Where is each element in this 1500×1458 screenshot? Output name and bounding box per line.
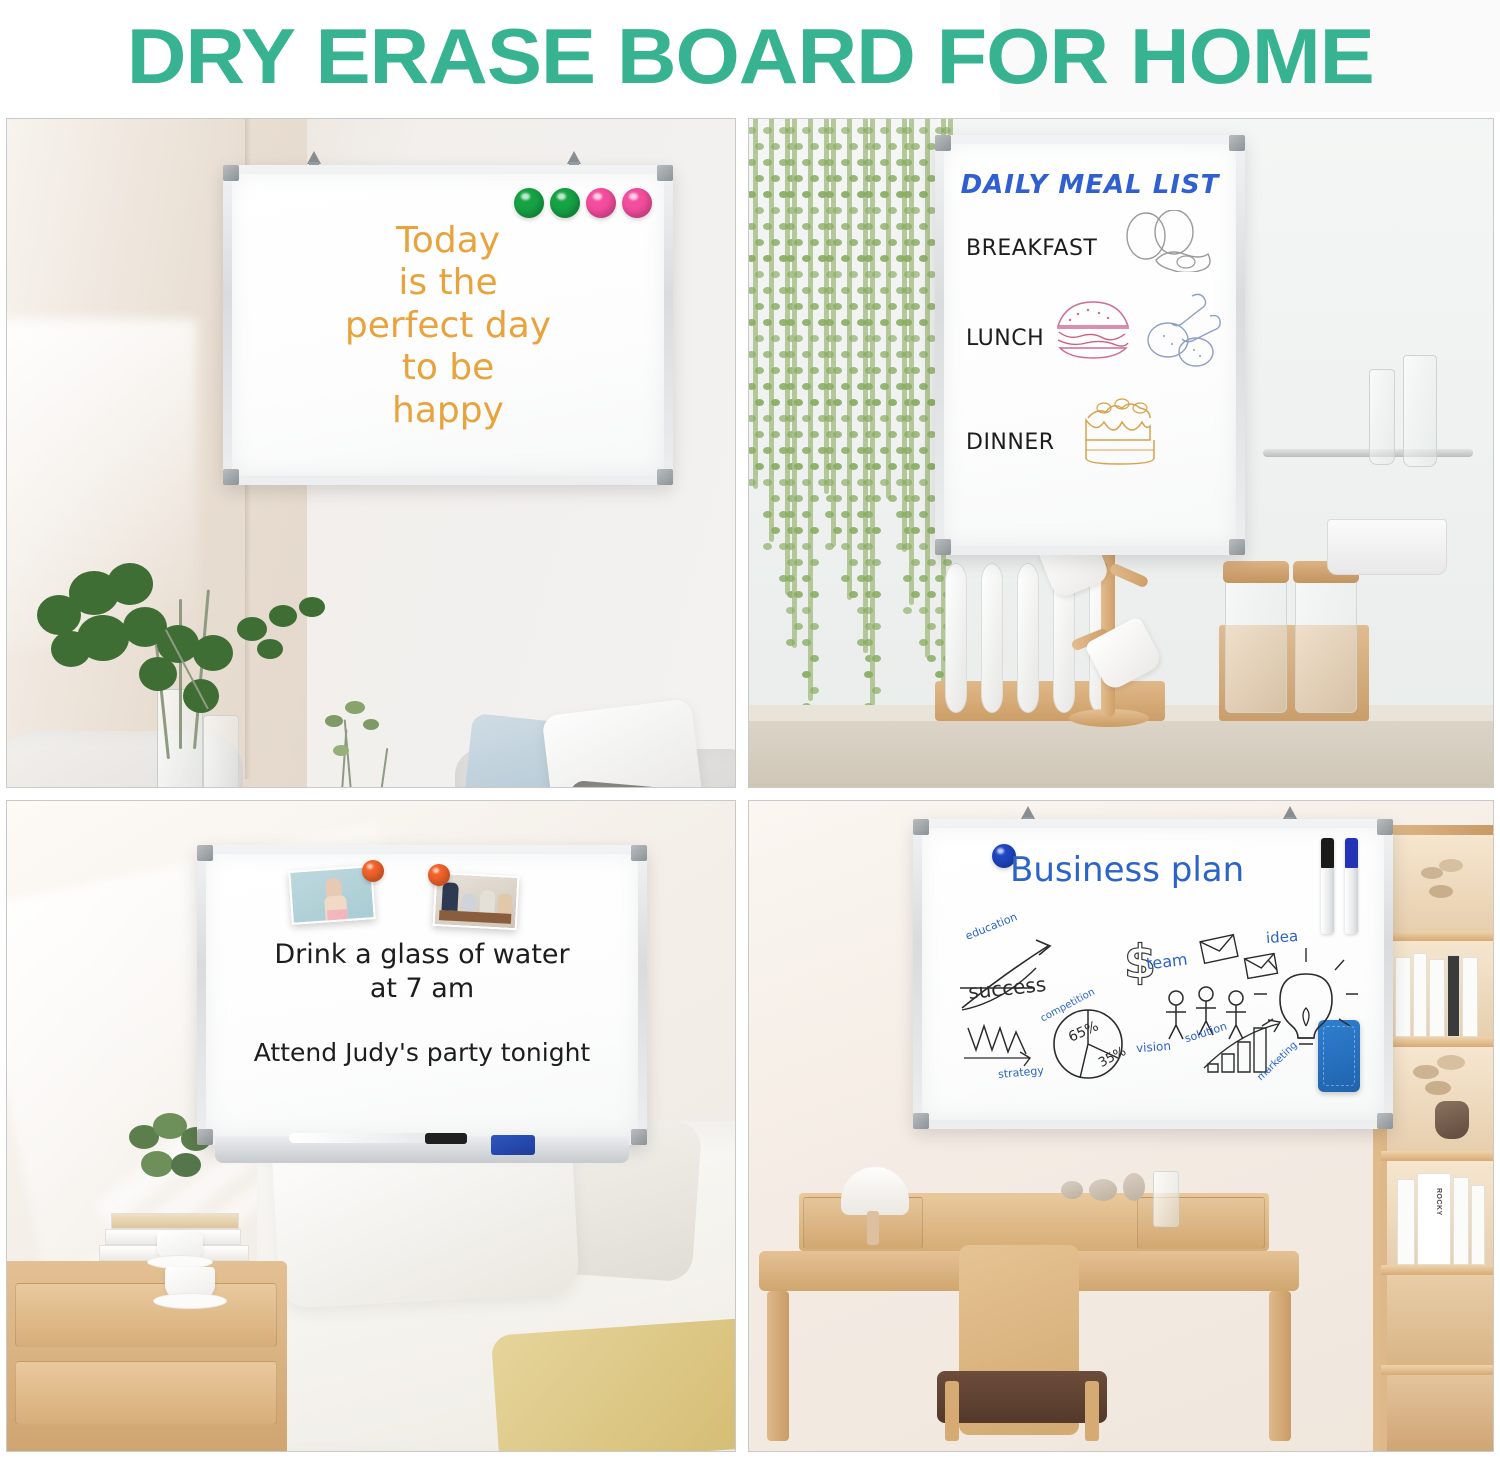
vine-leaf [841, 319, 850, 326]
note-line-2: at 7 am [206, 972, 638, 1006]
vine-leaf [841, 511, 850, 518]
vine-leaf [763, 479, 772, 486]
desk-leg-left [767, 1291, 789, 1441]
shelf-cell-4: ROCKY [1387, 1161, 1493, 1265]
frame-corner-top-right [1229, 135, 1245, 151]
vine-leaf [888, 335, 897, 342]
whiteboard-surface[interactable]: Drink a glass of water at 7 am Attend Ju… [206, 854, 638, 1136]
vine-leaf [771, 207, 780, 214]
vine-leaf [786, 191, 795, 198]
panel-bedroom: Drink a glass of water at 7 am Attend Ju… [6, 800, 736, 1452]
vine-leaf [903, 415, 912, 422]
plate-1 [945, 563, 967, 713]
vine-leaf [841, 127, 850, 134]
vine-leaf [794, 367, 803, 374]
vine-leaf [880, 479, 889, 486]
panel-grid: Today is the perfect day to be happy [0, 112, 1500, 1458]
vine-leaf [919, 127, 928, 134]
shelf-cell-1 [1387, 835, 1493, 931]
vine-leaf [919, 223, 928, 230]
vine-leaf [911, 271, 920, 278]
plate-3 [1017, 563, 1039, 713]
vine-leaf [786, 479, 795, 486]
frame-corner-bottom-right [631, 1129, 647, 1145]
vine-leaf [841, 159, 850, 166]
vine-leaf [872, 623, 881, 630]
vine-leaf [802, 127, 811, 134]
vine-leaf [903, 447, 912, 454]
vine-leaf [888, 399, 897, 406]
vine-leaf [802, 383, 811, 390]
vine-leaf [888, 239, 897, 246]
vine-leaf [794, 463, 803, 470]
note-line-1: Drink a glass of water [206, 938, 638, 972]
vine-leaf [888, 207, 897, 214]
message-line-2: is the [232, 262, 664, 304]
marker-blue[interactable] [1345, 838, 1358, 934]
vine-leaf [802, 575, 811, 582]
vine-leaf [864, 127, 873, 134]
glass-vase-2 [203, 715, 239, 787]
vine-leaf [802, 223, 811, 230]
vine-leaf [903, 319, 912, 326]
chair-leg-right [1085, 1381, 1099, 1441]
vine-leaf [911, 431, 920, 438]
vine-leaf [911, 527, 920, 534]
vine-leaf [755, 207, 764, 214]
message-line-3: perfect day [232, 305, 664, 347]
vine-leaf [919, 159, 928, 166]
vine-leaf [825, 255, 834, 262]
vine-leaf [833, 431, 842, 438]
decor-stone-2 [1089, 1179, 1117, 1201]
marker-blue-cap [1345, 838, 1358, 868]
vine-leaf [786, 511, 795, 518]
drumsticks-doodle [1140, 290, 1224, 368]
vine-leaf [919, 191, 928, 198]
vine-leaf [810, 495, 819, 502]
frame-corner-top-right [657, 165, 673, 181]
vine-leaf [911, 303, 920, 310]
vine-leaf [786, 287, 795, 294]
vine-leaf [755, 239, 764, 246]
vine-leaf [880, 447, 889, 454]
vine-leaf [903, 159, 912, 166]
vine-leaf [786, 447, 795, 454]
pillow-white [542, 698, 707, 787]
vine-leaf [841, 447, 850, 454]
vine-leaf [888, 271, 897, 278]
vine-leaf [802, 351, 811, 358]
frame-corner-top-left [197, 845, 213, 861]
vine-leaf [786, 127, 795, 134]
vine-leaf [763, 415, 772, 422]
marker-black-cap [1321, 838, 1334, 868]
vine-leaf [794, 239, 803, 246]
glass-bottle-1 [1369, 369, 1395, 465]
desk [759, 1211, 1299, 1441]
vine-leaf [810, 559, 819, 566]
vine-leaf [864, 191, 873, 198]
vine-leaf [880, 319, 889, 326]
book-4 [1447, 955, 1460, 1037]
vine-leaf [771, 495, 780, 502]
desk-lamp-stem [867, 1211, 879, 1245]
vine-leaf [786, 319, 795, 326]
vine-leaf [833, 207, 842, 214]
vine-leaf [872, 431, 881, 438]
vine-leaf [786, 639, 795, 646]
eggs-doodle [1120, 210, 1220, 272]
vine-leaf [794, 591, 803, 598]
book-5 [1462, 957, 1478, 1037]
vine-leaf [802, 671, 811, 678]
magnet-green-2[interactable] [550, 188, 580, 218]
chair-leg-left [945, 1381, 959, 1441]
frame-corner-top-right [631, 845, 647, 861]
whiteboard-notes: Drink a glass of water at 7 am Attend Ju… [206, 938, 638, 1067]
vine-leaf [919, 415, 928, 422]
vine-leaf [872, 143, 881, 150]
vine-leaf [841, 383, 850, 390]
vine-leaf [864, 255, 873, 262]
vine-leaf [810, 175, 819, 182]
nightstand-drawer-top [15, 1283, 277, 1347]
vine-leaf [935, 639, 944, 646]
vine-leaf [763, 191, 772, 198]
frame-corner-bottom-right [657, 469, 673, 485]
vine-leaf [919, 447, 928, 454]
panel-study: ROCKY [748, 800, 1494, 1452]
tray-eraser-blue[interactable] [491, 1135, 535, 1155]
vine-leaf [849, 431, 858, 438]
vine-leaf [872, 527, 881, 534]
meal-list-title: DAILY MEAL LIST [961, 170, 1220, 200]
tray-marker-body[interactable] [289, 1133, 437, 1143]
book-1 [1395, 957, 1411, 1037]
vine-leaf [880, 223, 889, 230]
frame-corner-bottom-left [223, 469, 239, 485]
vine-leaf [771, 431, 780, 438]
vine-leaf [810, 527, 819, 534]
vine-leaf [771, 399, 780, 406]
vine-leaf [786, 575, 795, 582]
meal-label-breakfast: BREAKFAST [966, 236, 1097, 261]
vine-leaf [903, 575, 912, 582]
magnet-pink-2[interactable] [622, 188, 652, 218]
jar-lid-1 [1223, 561, 1289, 583]
vine-leaf [903, 607, 912, 614]
vine-leaf [825, 191, 834, 198]
vine-leaf [802, 447, 811, 454]
frame-corner-bottom-left [935, 539, 951, 555]
vine-leaf [872, 559, 881, 566]
meal-row-breakfast: BREAKFAST [966, 236, 1097, 261]
desk-leg-right [1269, 1291, 1291, 1441]
vine-leaf [880, 191, 889, 198]
book-7 [1453, 1177, 1469, 1265]
vine-leaf [825, 127, 834, 134]
vine-leaf [786, 543, 795, 550]
vine-leaf [880, 127, 889, 134]
vine-leaf [935, 607, 944, 614]
vine-leaf [927, 559, 936, 566]
vine-leaf [825, 447, 834, 454]
whiteboard-study[interactable]: Business plan [913, 819, 1393, 1129]
vine-leaf [786, 607, 795, 614]
vine-leaf [825, 159, 834, 166]
frame-corner-bottom-left [913, 1113, 929, 1129]
shelf-board-5 [1381, 1365, 1493, 1375]
vine-leaf [771, 335, 780, 342]
business-plan-title: Business plan [1010, 850, 1244, 890]
vine-leaf [825, 319, 834, 326]
vine-leaf [864, 671, 873, 678]
panel-living-room: Today is the perfect day to be happy [6, 118, 736, 788]
vine-leaf [841, 191, 850, 198]
vine-leaf [888, 175, 897, 182]
vine-leaf [755, 175, 764, 182]
vine-leaf [903, 479, 912, 486]
vine-leaf [849, 367, 858, 374]
nightstand-drawer-bottom [15, 1361, 277, 1425]
vine-leaf [810, 143, 819, 150]
glass-bottle-2 [1403, 355, 1437, 467]
vine-leaf [880, 159, 889, 166]
vine-leaf [872, 687, 881, 694]
panel-kitchen: DAILY MEAL LIST BREAKFAST [748, 118, 1494, 788]
vine-leaf [841, 351, 850, 358]
whiteboard-surface[interactable]: Business plan [922, 828, 1384, 1120]
vine-leaf [802, 191, 811, 198]
vine-leaf [763, 159, 772, 166]
whiteboard-living-room[interactable]: Today is the perfect day to be happy [223, 165, 673, 485]
vine-leaf [911, 399, 920, 406]
whiteboard-frame: Business plan [913, 819, 1393, 1129]
vine-leaf [911, 175, 920, 182]
vine-leaf [903, 287, 912, 294]
message-line-5: happy [232, 390, 664, 432]
vine-leaf [833, 367, 842, 374]
vine-leaf [919, 543, 928, 550]
vine-leaf [903, 351, 912, 358]
frame-corner-top-left [913, 819, 929, 835]
vine-leaf [911, 335, 920, 342]
message-line-4: to be [232, 347, 664, 389]
vine-leaf [802, 255, 811, 262]
vine-leaf [849, 175, 858, 182]
vine-leaf [919, 351, 928, 358]
vine-leaf [786, 159, 795, 166]
glass-cup [1153, 1171, 1179, 1227]
vine-leaf [810, 623, 819, 630]
vine-leaf [872, 495, 881, 502]
vine-leaf [849, 399, 858, 406]
vine-leaf [802, 415, 811, 422]
frame-corner-bottom-right [1229, 539, 1245, 555]
book-rocky: ROCKY [1417, 1173, 1451, 1265]
vine-leaf [888, 463, 897, 470]
meal-row-lunch: LUNCH [966, 326, 1044, 351]
vine-leaf [794, 623, 803, 630]
vine-leaf [794, 303, 803, 310]
vine-leaf [888, 367, 897, 374]
marker-black[interactable] [1321, 838, 1334, 934]
saucer-2 [153, 1293, 227, 1309]
frame-corner-bottom-right [1377, 1113, 1393, 1129]
vine-leaf [825, 479, 834, 486]
magnet-green-1[interactable] [514, 188, 544, 218]
vine-leaf [841, 543, 850, 550]
header-banner: DRY ERASE BOARD FOR HOME [0, 0, 1500, 112]
vine-leaf [872, 463, 881, 470]
vine-leaf [810, 271, 819, 278]
vine-leaf [880, 383, 889, 390]
vine-leaf [833, 239, 842, 246]
vine-leaf [911, 143, 920, 150]
meal-row-dinner: DINNER [966, 430, 1055, 455]
vine-leaf [919, 479, 928, 486]
vine-leaf [771, 239, 780, 246]
vine-leaf [919, 575, 928, 582]
vine-leaf [903, 383, 912, 390]
vine-leaf [771, 367, 780, 374]
vine-leaf [802, 287, 811, 294]
vine-leaf [927, 655, 936, 662]
tray-marker-cap [425, 1133, 467, 1144]
whiteboard-bedroom[interactable]: Drink a glass of water at 7 am Attend Ju… [197, 845, 647, 1145]
vine-leaf [911, 559, 920, 566]
magnet-pink-1[interactable] [586, 188, 616, 218]
vine-leaf [864, 223, 873, 230]
vine-leaf [864, 607, 873, 614]
vine-leaf [794, 559, 803, 566]
vine-leaf [872, 367, 881, 374]
vine-leaf [919, 319, 928, 326]
page-title: DRY ERASE BOARD FOR HOME [126, 17, 1373, 95]
vine-leaf [810, 207, 819, 214]
vine-leaf [911, 367, 920, 374]
vine-leaf [911, 207, 920, 214]
vine-leaf [786, 351, 795, 358]
book-6 [1397, 1179, 1415, 1265]
whiteboard-surface[interactable]: DAILY MEAL LIST BREAKFAST [944, 144, 1236, 546]
vine-leaf [794, 495, 803, 502]
vine-leaf [763, 223, 772, 230]
vine-leaf [794, 399, 803, 406]
product-lifestyle-collage: DRY ERASE BOARD FOR HOME [0, 0, 1500, 1458]
vine-leaf [849, 143, 858, 150]
vine-leaf [872, 591, 881, 598]
wall-basket [1327, 519, 1447, 575]
vine-leaf [919, 607, 928, 614]
whiteboard-message: Today is the perfect day to be happy [232, 220, 664, 432]
vine-leaf [864, 287, 873, 294]
vine-leaf [903, 127, 912, 134]
book-label-rocky: ROCKY [1435, 1188, 1442, 1216]
vine-leaf [802, 607, 811, 614]
glass-jar-1 [1225, 573, 1287, 713]
vine-leaf [880, 255, 889, 262]
vine-leaf [825, 543, 834, 550]
whiteboard-kitchen[interactable]: DAILY MEAL LIST BREAKFAST [935, 135, 1245, 555]
vine-leaf [810, 239, 819, 246]
vine-leaf [763, 287, 772, 294]
vine-leaf [755, 463, 764, 470]
vine-leaf [849, 207, 858, 214]
vine-leaf [903, 543, 912, 550]
vine-leaf [833, 495, 842, 502]
bed-throw-blanket [491, 1318, 735, 1451]
vine-leaf [919, 287, 928, 294]
shelf-board-2 [1381, 1037, 1493, 1047]
vase-decor [1435, 1101, 1469, 1139]
vine-leaf [810, 687, 819, 694]
vine-leaf [833, 399, 842, 406]
frame-corner-top-left [935, 135, 951, 151]
vine-leaf [794, 431, 803, 438]
vine-leaf [888, 495, 897, 502]
vine-leaf [794, 335, 803, 342]
vine-leaf [849, 335, 858, 342]
vine-leaf [872, 239, 881, 246]
vine-leaf [786, 415, 795, 422]
vine-leaf [833, 143, 842, 150]
meal-label-lunch: LUNCH [966, 326, 1044, 351]
shelf-board-3 [1381, 1151, 1493, 1161]
burger-doodle [1052, 296, 1134, 366]
vine-leaf [903, 511, 912, 518]
vine-leaf [755, 399, 764, 406]
vine-leaf [802, 479, 811, 486]
vine-leaf [903, 255, 912, 262]
vine-leaf [880, 287, 889, 294]
vine-leaf [810, 399, 819, 406]
shelf-cell-3 [1387, 1047, 1493, 1151]
magnet-orange-2[interactable] [428, 864, 450, 886]
vine-leaf [864, 575, 873, 582]
vine-leaf [810, 367, 819, 374]
vine-leaf [849, 559, 858, 566]
vine-leaf [919, 639, 928, 646]
shelf-cell-6 [1387, 1375, 1493, 1451]
vine-leaf [841, 255, 850, 262]
vine-leaf [755, 367, 764, 374]
vine-leaf [864, 447, 873, 454]
desk-lamp [841, 1167, 909, 1215]
vine-leaf [942, 127, 951, 134]
whiteboard-frame: Drink a glass of water at 7 am Attend Ju… [197, 845, 647, 1145]
vine-leaf [864, 319, 873, 326]
book-8 [1471, 1185, 1485, 1265]
magnet-orange-1[interactable] [362, 860, 384, 882]
vine-leaf [841, 287, 850, 294]
vine-leaf [771, 175, 780, 182]
whiteboard-surface[interactable]: Today is the perfect day to be happy [232, 174, 664, 476]
vine-leaf [763, 543, 772, 550]
vine-leaf [802, 511, 811, 518]
book-3 [1429, 959, 1445, 1037]
vine-leaf [802, 543, 811, 550]
vine-leaf [763, 255, 772, 262]
decor-stone-1 [1061, 1181, 1083, 1199]
vine-leaf [841, 415, 850, 422]
shelf-board-4 [1381, 1265, 1493, 1275]
vine-leaf [763, 511, 772, 518]
vine-leaf [825, 383, 834, 390]
vine-leaf [872, 335, 881, 342]
vine-leaf [880, 351, 889, 358]
